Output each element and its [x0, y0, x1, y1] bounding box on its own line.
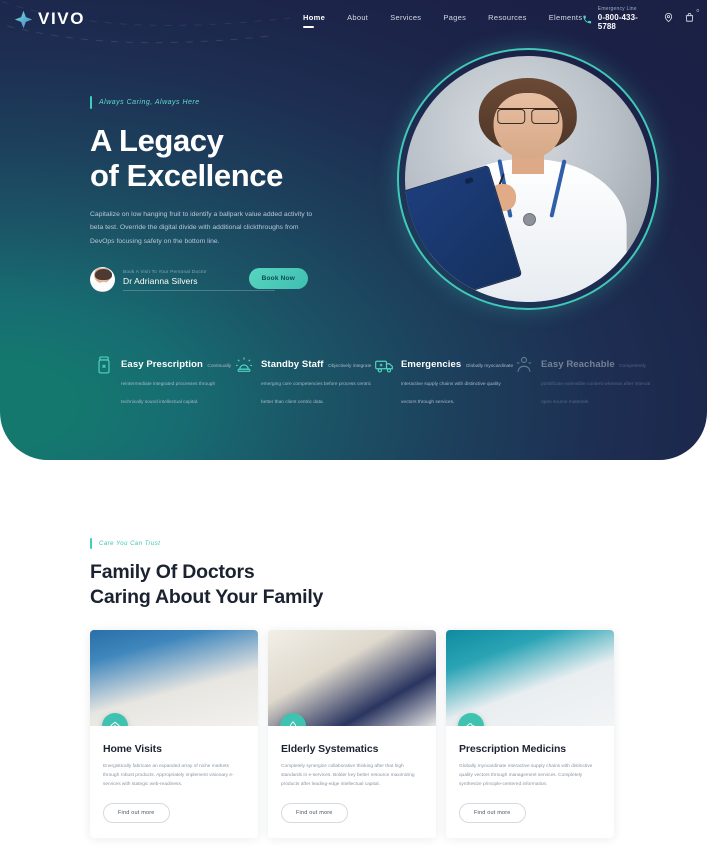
tagline-accent-bar: [90, 96, 92, 109]
section2-accent-bar: [90, 538, 92, 549]
card-image: [268, 630, 436, 726]
ambulance-icon: [374, 355, 394, 375]
hero-tagline: Always Caring, Always Here: [90, 96, 360, 109]
shopping-bag-icon[interactable]: 0: [684, 10, 695, 28]
card-image: [90, 630, 258, 726]
feature-desc: Continually reintermediate integrated pr…: [121, 364, 231, 405]
feature-desc: Competently pontificate extensible conte…: [541, 364, 650, 405]
feature-title: Easy Reachable: [541, 359, 615, 370]
section2-heading-line1: Family Of Doctors: [90, 561, 255, 583]
prescription-bottle-icon: [94, 355, 114, 375]
avatar: [90, 267, 115, 292]
doctor-face: [494, 93, 563, 159]
feature-emergencies[interactable]: Emergencies Globally myocardinate intera…: [374, 354, 514, 408]
doctor-photo: [405, 56, 651, 302]
main-nav: Home About Services Pages Resources Elem…: [303, 13, 582, 26]
select-underline: [123, 290, 275, 291]
home-visit-icon: [102, 713, 128, 726]
card-desc: Completely synergize collaborative think…: [281, 762, 423, 790]
water-drop-icon: [280, 713, 306, 726]
nav-item-home[interactable]: Home: [303, 13, 325, 26]
card-title: Home Visits: [103, 743, 245, 755]
nav-item-about[interactable]: About: [347, 13, 368, 26]
nav-item-pages[interactable]: Pages: [443, 13, 466, 26]
phone-icon: [582, 14, 592, 25]
card-prescription-medicins[interactable]: Prescription Medicins Globally myocardin…: [446, 630, 614, 838]
alarm-light-icon: [234, 355, 254, 375]
four-point-star-icon: [14, 10, 33, 29]
header-utilities: Emergency Line 0-800-433-5788 0: [582, 7, 695, 31]
feature-easy-reachable[interactable]: Easy Reachable Competently pontificate e…: [514, 354, 654, 408]
feature-strip: Easy Prescription Continually reintermed…: [94, 354, 654, 408]
hero-heading-line1: A Legacy: [90, 123, 224, 158]
hero-heading-line2: of Excellence: [90, 158, 283, 193]
pills-icon: [458, 713, 484, 726]
emergency-phone[interactable]: Emergency Line 0-800-433-5788: [582, 7, 653, 31]
card-title: Elderly Systematics: [281, 743, 423, 755]
section2-tagline: Care You Can Trust: [90, 538, 707, 549]
cart-count-badge: 0: [696, 8, 699, 13]
section2-tagline-text: Care You Can Trust: [99, 541, 160, 547]
feature-desc: Objectively integrate emerging core comp…: [261, 364, 371, 405]
hero-content: Always Caring, Always Here A Legacy of E…: [90, 96, 360, 295]
feature-title: Emergencies: [401, 359, 461, 370]
nav-item-elements[interactable]: Elements: [549, 13, 583, 26]
doctor-select-value: Dr Adrianna Silvers: [123, 276, 198, 286]
section2-heading-line2: Caring About Your Family: [90, 586, 323, 608]
nav-item-resources[interactable]: Resources: [488, 13, 527, 26]
find-out-more-button[interactable]: Find out more: [103, 803, 170, 823]
card-desc: Energistically fabricate an expanded arr…: [103, 762, 245, 790]
emergency-number: 0-800-433-5788: [598, 13, 653, 31]
doctor-glasses: [497, 108, 559, 123]
nav-item-services[interactable]: Services: [390, 13, 421, 26]
booking-widget: Book A Visit To Your Personal Doctor Dr …: [90, 265, 305, 295]
section2-heading: Family Of Doctors Caring About Your Fami…: [90, 560, 707, 611]
logo[interactable]: VIVO: [14, 9, 85, 29]
card-home-visits[interactable]: Home Visits Energistically fabricate an …: [90, 630, 258, 838]
card-elderly-systematics[interactable]: Elderly Systematics Completely synergize…: [268, 630, 436, 838]
feature-standby-staff[interactable]: Standby Staff Objectively integrate emer…: [234, 354, 374, 408]
easy-reach-icon: [514, 355, 534, 375]
family-doctors-section: Care You Can Trust Family Of Doctors Car…: [0, 460, 707, 838]
find-out-more-button[interactable]: Find out more: [281, 803, 348, 823]
feature-desc: Globally myocardinate interactive supply…: [401, 364, 513, 405]
hero-heading: A Legacy of Excellence: [90, 123, 360, 193]
hero-section: VIVO Home About Services Pages Resources…: [0, 0, 707, 460]
hero-portrait: [397, 48, 659, 310]
feature-easy-prescription[interactable]: Easy Prescription Continually reintermed…: [94, 354, 234, 408]
hero-tagline-text: Always Caring, Always Here: [99, 99, 200, 106]
card-title: Prescription Medicins: [459, 743, 601, 755]
logo-text: VIVO: [38, 9, 85, 29]
card-desc: Globally myocardinate interactive supply…: [459, 762, 601, 790]
card-image: [446, 630, 614, 726]
feature-title: Standby Staff: [261, 359, 324, 370]
book-now-button[interactable]: Book Now: [249, 268, 308, 289]
service-cards: Home Visits Energistically fabricate an …: [90, 630, 707, 838]
feature-title: Easy Prescription: [121, 359, 203, 370]
site-header: VIVO Home About Services Pages Resources…: [0, 0, 707, 38]
find-out-more-button[interactable]: Find out more: [459, 803, 526, 823]
hero-paragraph: Capitalize on low hanging fruit to ident…: [90, 208, 315, 248]
location-pin-icon[interactable]: [663, 10, 674, 28]
